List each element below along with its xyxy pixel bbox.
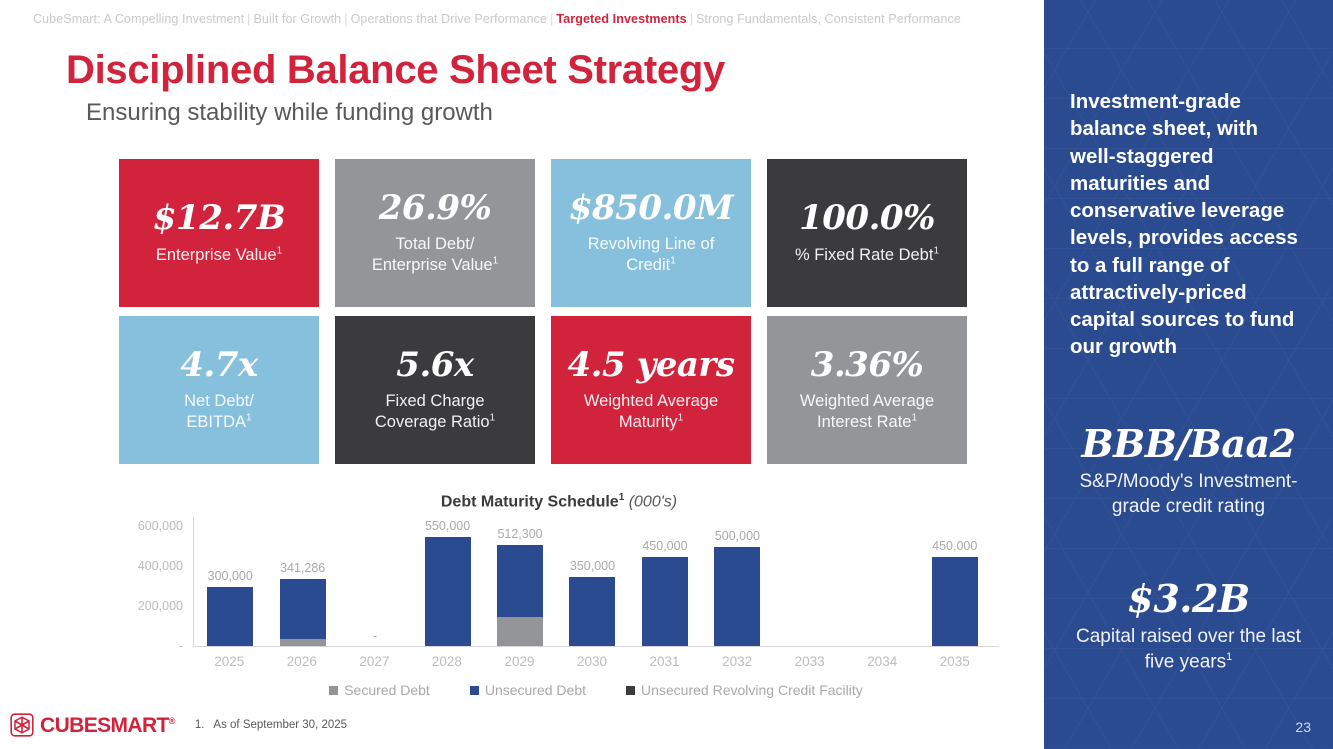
breadcrumb-separator: | bbox=[244, 12, 253, 26]
bar-column-2025: 300,000 bbox=[194, 517, 266, 647]
x-tick-label-2033: 2033 bbox=[773, 654, 846, 669]
metric-footnote: 1 bbox=[911, 412, 917, 423]
x-tick-label-2031: 2031 bbox=[628, 654, 701, 669]
chart-plot-area: 300,000341,286-550,000512,300350,000450,… bbox=[193, 517, 991, 647]
capital-raised-block: $3.2B Capital raised over the last five … bbox=[1070, 578, 1307, 676]
y-tick-label: 200,000 bbox=[138, 599, 183, 613]
bar-segment-unsecured-debt bbox=[497, 545, 543, 617]
bar-column-2028: 550,000 bbox=[411, 517, 483, 647]
breadcrumb: CubeSmart: A Compelling Investment|Built… bbox=[33, 12, 961, 26]
bar-segment-unsecured-debt bbox=[642, 557, 688, 647]
breadcrumb-item-1[interactable]: CubeSmart: A Compelling Investment bbox=[33, 12, 244, 26]
bar-column-2026: 341,286 bbox=[266, 517, 338, 647]
metric-footnote: 1 bbox=[490, 412, 496, 423]
y-tick-label: - bbox=[179, 639, 183, 653]
breadcrumb-item-2[interactable]: Built for Growth bbox=[254, 12, 342, 26]
breadcrumb-item-3[interactable]: Operations that Drive Performance bbox=[351, 12, 547, 26]
legend-item-secured-debt[interactable]: Secured Debt bbox=[329, 682, 430, 698]
footnote-number: 1. bbox=[195, 719, 205, 731]
metric-tile-row-2: 4.7xNet Debt/EBITDA15.6xFixed ChargeCove… bbox=[119, 316, 969, 464]
capital-raised-caption-text: Capital raised over the last five years bbox=[1076, 626, 1301, 672]
bar-segment-secured-debt bbox=[497, 617, 543, 647]
bar-data-label: 550,000 bbox=[425, 519, 470, 533]
bar-data-label: 512,300 bbox=[497, 527, 542, 541]
bar-data-label: 341,286 bbox=[280, 561, 325, 575]
legend-label: Secured Debt bbox=[344, 682, 430, 698]
chart-x-axis: 2025202620272028202920302031203220332034… bbox=[193, 654, 991, 669]
metric-tile-1: $12.7BEnterprise Value1 bbox=[119, 159, 319, 307]
breadcrumb-item-5[interactable]: Strong Fundamentals, Consistent Performa… bbox=[696, 12, 961, 26]
credit-rating-value: BBB/Baa2 bbox=[1070, 423, 1307, 465]
metric-label: Weighted AverageInterest Rate1 bbox=[800, 391, 934, 432]
bar-segment-unsecured-debt bbox=[714, 547, 760, 647]
metric-value: 5.6x bbox=[396, 348, 473, 384]
highlights-panel: Investment-grade balance sheet, with wel… bbox=[1044, 0, 1333, 749]
metric-footnote: 1 bbox=[678, 412, 684, 423]
bar-segment-unsecured-debt bbox=[932, 557, 978, 647]
metric-label: Fixed ChargeCoverage Ratio1 bbox=[375, 391, 495, 432]
panel-lead-text: Investment-grade balance sheet, with wel… bbox=[1070, 88, 1307, 361]
metric-label: Weighted AverageMaturity1 bbox=[584, 391, 718, 432]
metric-label: Net Debt/EBITDA1 bbox=[184, 391, 254, 432]
legend-swatch bbox=[329, 686, 338, 695]
slide: CubeSmart: A Compelling Investment|Built… bbox=[0, 0, 1333, 749]
bar-data-label: 450,000 bbox=[932, 539, 977, 553]
bar-stack bbox=[569, 577, 615, 647]
metric-tile-5: 4.7xNet Debt/EBITDA1 bbox=[119, 316, 319, 464]
page-subtitle: Ensuring stability while funding growth bbox=[86, 99, 493, 127]
footnote: 1. As of September 30, 2025 bbox=[195, 719, 347, 731]
bar-stack bbox=[425, 537, 471, 647]
bar-stack bbox=[932, 557, 978, 647]
chart-title: Debt Maturity Schedule1 (000's) bbox=[119, 492, 999, 511]
bar-data-label: 350,000 bbox=[570, 559, 615, 573]
debt-maturity-chart: Debt Maturity Schedule1 (000's) -200,000… bbox=[119, 492, 999, 707]
metric-tile-2: 26.9%Total Debt/Enterprise Value1 bbox=[335, 159, 535, 307]
x-tick-label-2032: 2032 bbox=[701, 654, 774, 669]
metric-value: 26.9% bbox=[379, 191, 492, 227]
bar-segment-unsecured-debt bbox=[569, 577, 615, 647]
bar-data-label: 300,000 bbox=[208, 569, 253, 583]
cube-icon bbox=[10, 713, 34, 737]
capital-raised-footnote: 1 bbox=[1226, 651, 1232, 663]
legend-label: Unsecured Revolving Credit Facility bbox=[641, 682, 863, 698]
metric-value: $850.0M bbox=[569, 191, 733, 227]
metric-footnote: 1 bbox=[670, 255, 676, 266]
metric-tile-row-1: $12.7BEnterprise Value126.9%Total Debt/E… bbox=[119, 159, 969, 307]
breadcrumb-separator: | bbox=[687, 12, 696, 26]
x-tick-label-2035: 2035 bbox=[918, 654, 991, 669]
metric-tile-6: 5.6xFixed ChargeCoverage Ratio1 bbox=[335, 316, 535, 464]
bar-segment-unsecured-debt bbox=[207, 587, 253, 647]
x-tick-label-2025: 2025 bbox=[193, 654, 266, 669]
bar-data-label: 500,000 bbox=[715, 529, 760, 543]
metric-tile-8: 3.36%Weighted AverageInterest Rate1 bbox=[767, 316, 967, 464]
x-tick-label-2030: 2030 bbox=[556, 654, 629, 669]
bar-column-2027: - bbox=[339, 517, 411, 647]
bar-column-2030: 350,000 bbox=[556, 517, 628, 647]
metric-label: Enterprise Value1 bbox=[156, 245, 282, 266]
metric-tile-7: 4.5 yearsWeighted AverageMaturity1 bbox=[551, 316, 751, 464]
bar-column-2029: 512,300 bbox=[484, 517, 556, 647]
metric-value: 100.0% bbox=[799, 201, 935, 237]
chart-legend: Secured DebtUnsecured DebtUnsecured Revo… bbox=[193, 682, 999, 698]
legend-swatch bbox=[626, 686, 635, 695]
x-tick-label-2034: 2034 bbox=[846, 654, 919, 669]
bar-column-2034 bbox=[846, 517, 918, 647]
page-number: 23 bbox=[1295, 719, 1311, 735]
slide-footer: CUBESMART® 1. As of September 30, 2025 bbox=[10, 713, 347, 737]
y-tick-label: 400,000 bbox=[138, 559, 183, 573]
metric-label: % Fixed Rate Debt1 bbox=[795, 245, 939, 266]
metric-footnote: 1 bbox=[933, 245, 939, 256]
cubesmart-logo: CUBESMART® bbox=[10, 713, 175, 737]
bar-stack bbox=[280, 579, 326, 647]
metric-footnote: 1 bbox=[493, 255, 499, 266]
bar-stack bbox=[714, 547, 760, 647]
footnote-text: As of September 30, 2025 bbox=[213, 719, 347, 731]
chart-y-axis: -200,000400,000600,000 bbox=[119, 509, 189, 647]
x-tick-label-2029: 2029 bbox=[483, 654, 556, 669]
capital-raised-caption: Capital raised over the last five years1 bbox=[1070, 625, 1307, 675]
chart-title-footnote: 1 bbox=[619, 492, 625, 503]
metric-value: 4.7x bbox=[180, 348, 257, 384]
capital-raised-value: $3.2B bbox=[1070, 578, 1307, 620]
bar-column-2033 bbox=[774, 517, 846, 647]
metric-value: $12.7B bbox=[153, 201, 285, 237]
breadcrumb-separator: | bbox=[341, 12, 350, 26]
bar-segment-secured-debt bbox=[280, 639, 326, 647]
bar-data-label: - bbox=[373, 629, 377, 643]
metric-value: 3.36% bbox=[811, 348, 924, 384]
metric-footnote: 1 bbox=[246, 412, 252, 423]
trademark-symbol: ® bbox=[169, 716, 175, 726]
bar-column-2035: 450,000 bbox=[919, 517, 991, 647]
metric-footnote: 1 bbox=[277, 245, 283, 256]
bar-column-2032: 500,000 bbox=[701, 517, 773, 647]
credit-rating-block: BBB/Baa2 S&P/Moody's Investment-grade cr… bbox=[1070, 423, 1307, 520]
metric-tile-4: 100.0%% Fixed Rate Debt1 bbox=[767, 159, 967, 307]
metric-label: Revolving Line ofCredit1 bbox=[588, 234, 715, 275]
cubesmart-wordmark: CUBESMART® bbox=[40, 715, 175, 736]
bar-stack bbox=[207, 587, 253, 647]
y-tick-label: 600,000 bbox=[138, 519, 183, 533]
chart-units: (000's) bbox=[629, 493, 677, 510]
x-tick-label-2027: 2027 bbox=[338, 654, 411, 669]
chart-bars: 300,000341,286-550,000512,300350,000450,… bbox=[194, 517, 991, 647]
metric-tiles: $12.7BEnterprise Value126.9%Total Debt/E… bbox=[119, 159, 969, 473]
metric-value: 4.5 years bbox=[568, 348, 735, 384]
wordmark-smart: SMART bbox=[97, 714, 169, 737]
bar-data-label: 450,000 bbox=[642, 539, 687, 553]
breadcrumb-item-4[interactable]: Targeted Investments bbox=[556, 12, 686, 26]
legend-label: Unsecured Debt bbox=[485, 682, 586, 698]
bar-stack bbox=[642, 557, 688, 647]
wordmark-cube: CUBE bbox=[40, 714, 97, 737]
metric-tile-3: $850.0MRevolving Line ofCredit1 bbox=[551, 159, 751, 307]
bar-segment-unsecured-debt bbox=[425, 537, 471, 647]
bar-column-2031: 450,000 bbox=[629, 517, 701, 647]
legend-item-unsecured-revolving-credit-facility[interactable]: Unsecured Revolving Credit Facility bbox=[626, 682, 863, 698]
chart-title-text: Debt Maturity Schedule bbox=[441, 493, 619, 510]
metric-label: Total Debt/Enterprise Value1 bbox=[372, 234, 498, 275]
credit-rating-caption: S&P/Moody's Investment-grade credit rati… bbox=[1070, 470, 1307, 519]
legend-item-unsecured-debt[interactable]: Unsecured Debt bbox=[470, 682, 586, 698]
bar-segment-unsecured-debt bbox=[280, 579, 326, 639]
legend-swatch bbox=[470, 686, 479, 695]
page-title: Disciplined Balance Sheet Strategy bbox=[66, 48, 725, 93]
x-tick-label-2028: 2028 bbox=[411, 654, 484, 669]
x-tick-label-2026: 2026 bbox=[266, 654, 339, 669]
bar-stack bbox=[497, 545, 543, 647]
